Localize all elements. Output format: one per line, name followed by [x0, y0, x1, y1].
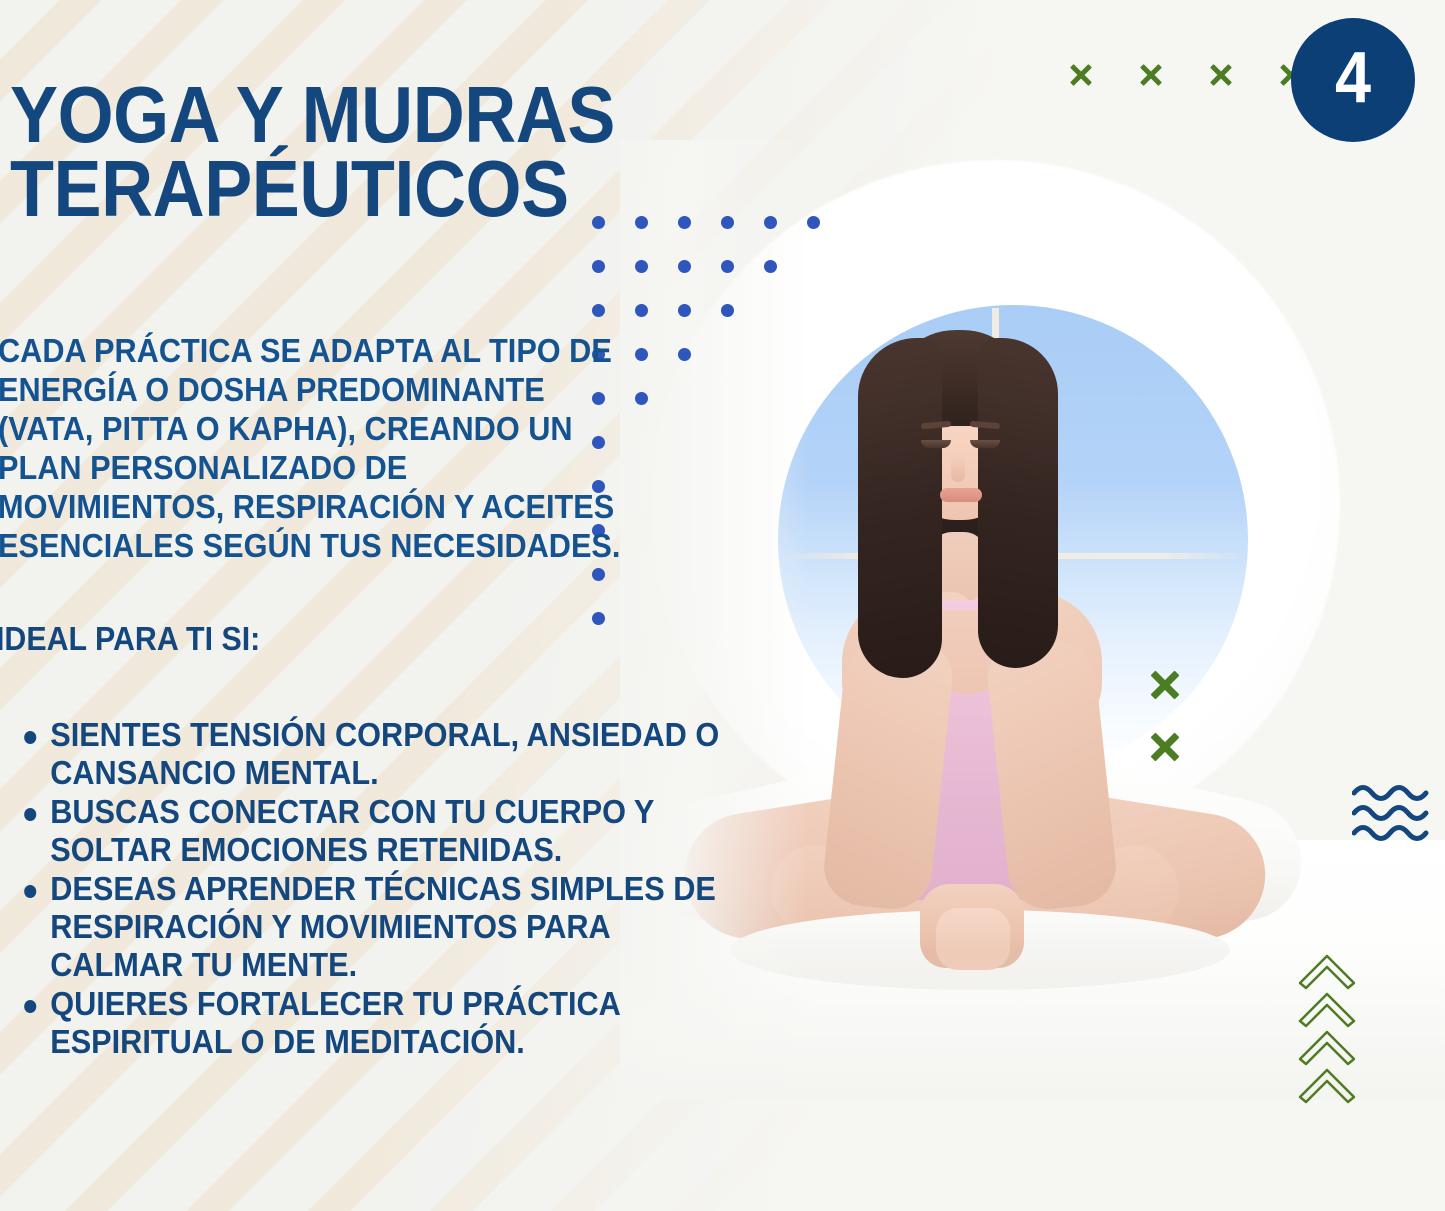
closed-eye-left [921, 440, 951, 448]
closed-eye-right [970, 440, 1000, 448]
chevron-up-icon [1296, 950, 1358, 990]
dot-icon [678, 348, 691, 361]
slide-number: 4 [1335, 42, 1371, 114]
intro-line-1: CADA PRÁCTICA SE ADAPTA AL TIPO DE [0, 332, 556, 371]
dot-icon [635, 304, 648, 317]
list-item: BUSCAS CONECTAR CON TU CUERPO Y SOLTAR E… [0, 793, 744, 868]
ideal-heading: IDEAL PARA TI SI: [0, 620, 364, 658]
dot-icon [592, 260, 605, 273]
dot-icon [592, 304, 605, 317]
hair-strand-left [858, 338, 942, 678]
dot-icon [764, 216, 777, 229]
dot-icon [592, 216, 605, 229]
intro-line-6: ESENCIALES SEGÚN TUS NECESIDADES. [0, 527, 556, 566]
dot-icon [764, 260, 777, 273]
x-icon [1138, 62, 1164, 88]
list-item: SIENTES TENSIÓN CORPORAL, ANSIEDAD O CAN… [0, 716, 744, 791]
chevron-up-icon [1296, 1064, 1358, 1104]
dot-icon [635, 260, 648, 273]
x-icon [1148, 668, 1182, 702]
intro-line-3: (VATA, PITTA O KAPHA), CREANDO UN [0, 410, 556, 449]
x-icon [1068, 62, 1094, 88]
dot-grid-row [592, 200, 820, 244]
title-line-2: TERAPÉUTICOS [10, 152, 550, 226]
dot-icon [721, 260, 734, 273]
poster-canvas: 4 YOGA Y MUDRAS TERAPÉUTICOS CADA PRÁCTI… [0, 0, 1445, 1211]
dot-grid-decoration [592, 200, 820, 640]
dot-icon [635, 216, 648, 229]
benefits-list: SIENTES TENSIÓN CORPORAL, ANSIEDAD O CAN… [0, 716, 744, 1062]
slide-number-badge: 4 [1291, 18, 1415, 142]
dot-grid-row [592, 420, 820, 464]
intro-line-4: PLAN PERSONALIZADO DE [0, 449, 556, 488]
wave-lines-decoration [1352, 783, 1442, 850]
dot-icon [721, 216, 734, 229]
intro-line-5: MOVIMIENTOS, RESPIRACIÓN Y ACEITES [0, 488, 556, 527]
chevron-up-icon [1296, 988, 1358, 1028]
x-icon [1148, 730, 1182, 764]
dot-icon [592, 392, 605, 405]
dot-icon [592, 612, 605, 625]
page-title: YOGA Y MUDRAS TERAPÉUTICOS [10, 78, 550, 225]
dot-grid-row [592, 464, 820, 508]
dot-grid-row [592, 332, 820, 376]
dot-icon [678, 216, 691, 229]
dot-icon [678, 304, 691, 317]
dot-grid-row [592, 244, 820, 288]
dot-grid-row [592, 376, 820, 420]
dot-icon [635, 392, 648, 405]
wave-icon [1352, 783, 1442, 845]
dot-icon [592, 436, 605, 449]
hair-strand-right [978, 338, 1058, 668]
nose [951, 456, 965, 482]
intro-paragraph: CADA PRÁCTICA SE ADAPTA AL TIPO DEENERGÍ… [0, 332, 556, 566]
dot-grid-row [592, 508, 820, 552]
chevron-stack-decoration [1296, 950, 1358, 1102]
dot-icon [678, 260, 691, 273]
dot-grid-row [592, 288, 820, 332]
x-mark-row-decoration [1068, 62, 1304, 88]
title-line-1: YOGA Y MUDRAS [10, 78, 550, 152]
chevron-up-icon [1296, 1026, 1358, 1066]
dot-grid-row [592, 552, 820, 596]
dot-icon [807, 216, 820, 229]
dot-icon [635, 348, 648, 361]
dot-icon [592, 568, 605, 581]
intro-line-2: ENERGÍA O DOSHA PREDOMINANTE [0, 371, 556, 410]
x-icon [1208, 62, 1234, 88]
list-item: DESEAS APRENDER TÉCNICAS SIMPLES DE RESP… [0, 870, 744, 983]
dot-grid-row [592, 596, 820, 640]
mouth [940, 488, 982, 502]
x-mark-stack-decoration [1148, 668, 1182, 792]
dot-icon [721, 304, 734, 317]
list-item: QUIERES FORTALECER TU PRÁCTICA ESPIRITUA… [0, 985, 744, 1060]
